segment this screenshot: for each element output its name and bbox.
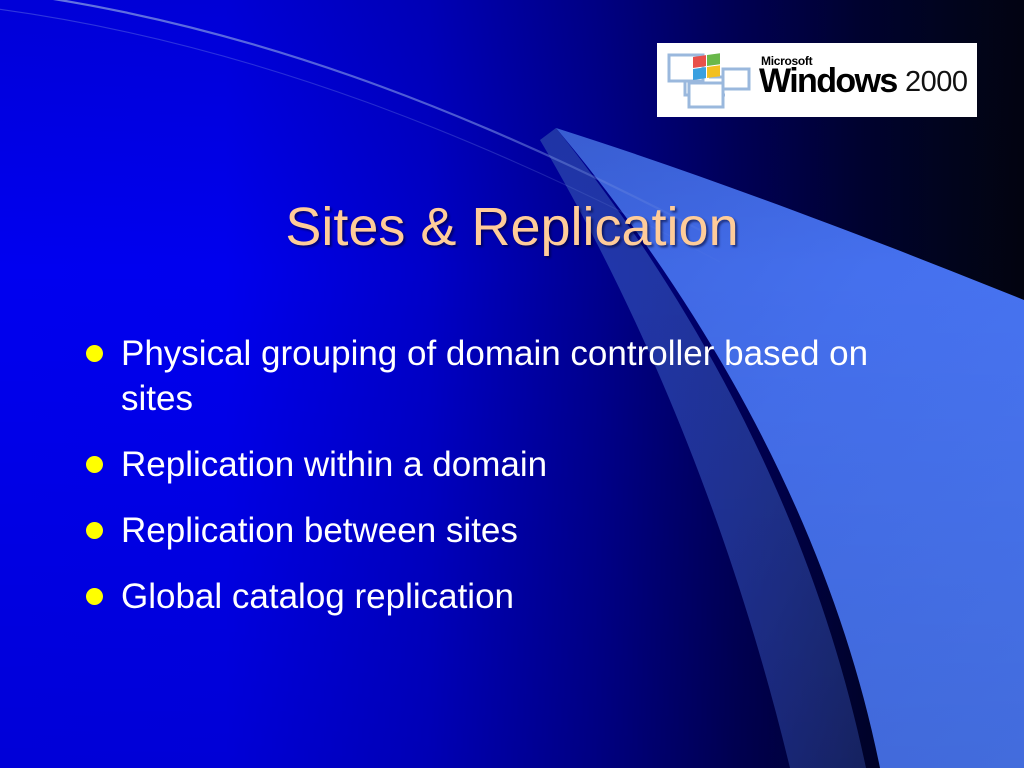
windows-wordmark: Microsoft Windows 2000 xyxy=(757,47,977,113)
logo-year-text: 2000 xyxy=(905,68,968,97)
list-item: Replication within a domain xyxy=(86,442,916,487)
list-item: Physical grouping of domain controller b… xyxy=(86,331,916,421)
bullet-dot-icon xyxy=(86,522,103,539)
logo-windows-text: Windows xyxy=(759,64,897,98)
list-item-label: Global catalog replication xyxy=(121,574,514,619)
list-item: Global catalog replication xyxy=(86,574,916,619)
list-item-label: Replication within a domain xyxy=(121,442,547,487)
bullet-dot-icon xyxy=(86,345,103,362)
list-item: Replication between sites xyxy=(86,508,916,553)
list-item-label: Replication between sites xyxy=(121,508,518,553)
windows-2000-logo: Microsoft Windows 2000 xyxy=(657,43,977,117)
slide-canvas: Microsoft Windows 2000 Sites & Replicati… xyxy=(0,0,1024,768)
network-diagram-icon xyxy=(663,47,755,113)
slide-title: Sites & Replication xyxy=(0,196,1024,258)
bullet-dot-icon xyxy=(86,588,103,605)
bullet-dot-icon xyxy=(86,456,103,473)
list-item-label: Physical grouping of domain controller b… xyxy=(121,331,896,421)
slide-bullet-list: Physical grouping of domain controller b… xyxy=(86,331,916,640)
